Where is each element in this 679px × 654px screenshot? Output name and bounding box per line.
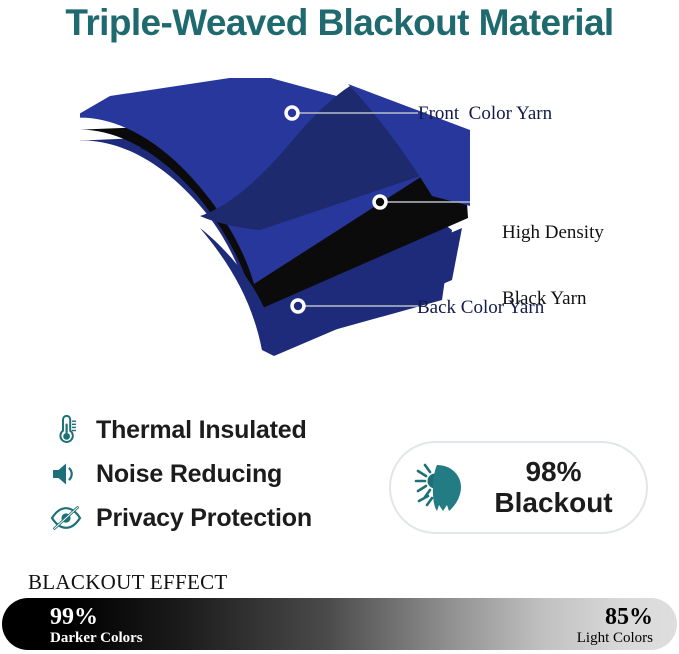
fabric-layers-diagram xyxy=(80,78,470,358)
sun-blocked-icon xyxy=(413,459,475,517)
gradient-bar-right-stat: 85% Light Colors xyxy=(577,605,653,647)
blackout-percent: 98% xyxy=(475,457,632,487)
blackout-badge: 98% Blackout xyxy=(389,441,648,534)
feature-row-noise-reducing: Noise Reducing xyxy=(48,452,358,496)
callout-label-line-1: High Density xyxy=(502,222,604,244)
page-title: Triple-Weaved Blackout Material xyxy=(0,2,679,44)
callout-label-back-color-yarn: Back Color Yarn xyxy=(417,297,544,319)
feature-label: Thermal Insulated xyxy=(96,416,307,445)
feature-label: Privacy Protection xyxy=(96,504,312,533)
light-colors-caption: Light Colors xyxy=(577,629,653,647)
blackout-badge-text: 98% Blackout xyxy=(475,457,646,519)
blackout-effect-gradient-bar: 99% Darker Colors 85% Light Colors xyxy=(2,598,677,650)
darker-colors-percent: 99% xyxy=(50,605,143,629)
blackout-word: Blackout xyxy=(475,487,632,519)
light-colors-percent: 85% xyxy=(577,605,653,629)
feature-list: Thermal Insulated Noise Reducing Privacy… xyxy=(48,408,358,540)
darker-colors-caption: Darker Colors xyxy=(50,629,143,647)
gradient-bar-left-stat: 99% Darker Colors xyxy=(50,605,143,647)
eye-slash-icon xyxy=(48,502,84,534)
feature-label: Noise Reducing xyxy=(96,460,282,489)
thermometer-icon xyxy=(48,414,84,446)
callout-label-front-color-yarn: Front Color Yarn xyxy=(418,103,552,125)
blackout-effect-heading: BLACKOUT EFFECT xyxy=(28,570,228,595)
feature-row-thermal-insulated: Thermal Insulated xyxy=(48,408,358,452)
feature-row-privacy-protection: Privacy Protection xyxy=(48,496,358,540)
speaker-sound-icon xyxy=(48,458,84,490)
